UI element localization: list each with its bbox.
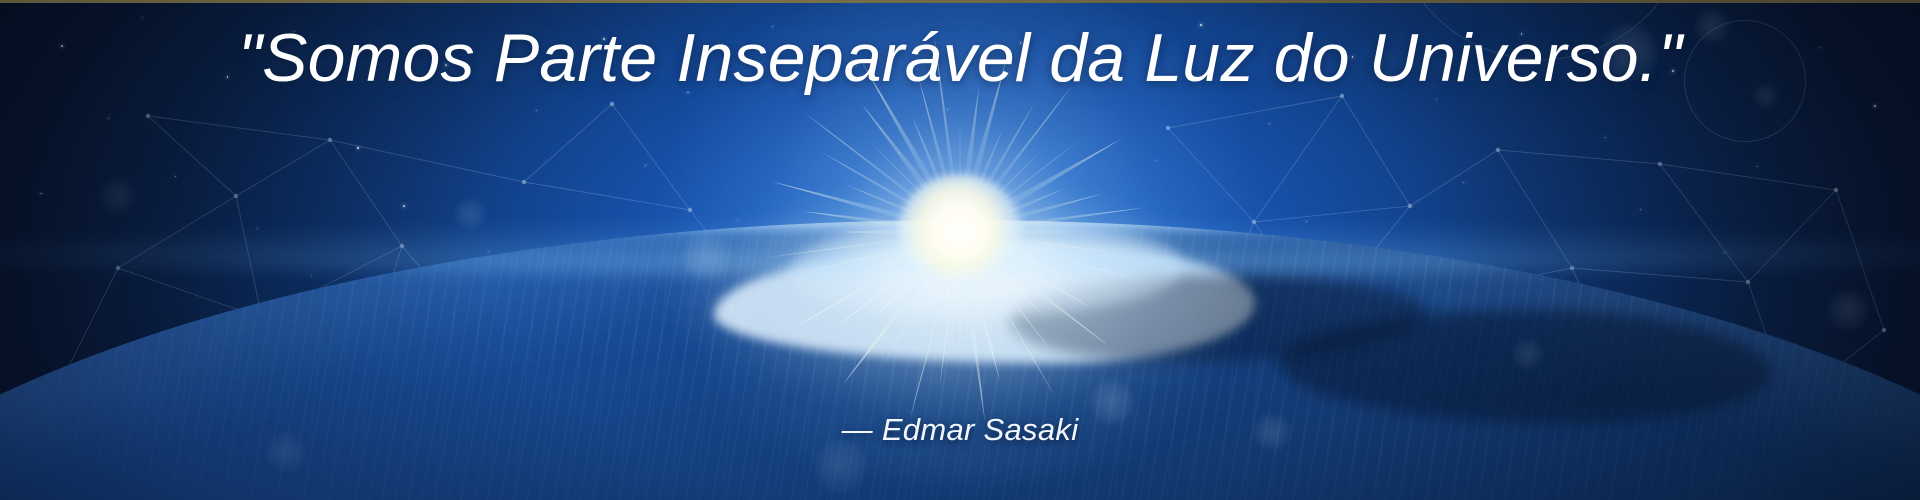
quote-headline: "Somos Parte Inseparável da Luz do Unive… bbox=[0, 22, 1920, 95]
hero-banner: "Somos Parte Inseparável da Luz do Unive… bbox=[0, 0, 1920, 500]
quote-attribution: — Edmar Sasaki bbox=[0, 412, 1920, 448]
banner-content: "Somos Parte Inseparável da Luz do Unive… bbox=[0, 0, 1920, 500]
top-accent-bar bbox=[0, 0, 1920, 3]
